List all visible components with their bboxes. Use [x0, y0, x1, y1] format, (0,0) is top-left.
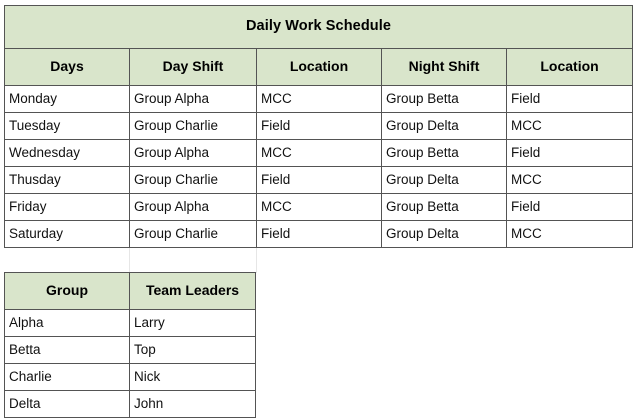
cell-day-shift: Group Alpha	[130, 86, 257, 113]
cell-night-shift: Group Delta	[382, 167, 507, 194]
column-header-day-shift: Day Shift	[130, 49, 257, 86]
cell-location-day: MCC	[257, 140, 382, 167]
cell-day-shift: Group Charlie	[130, 167, 257, 194]
cell-group: Delta	[5, 391, 130, 418]
cell-group: Betta	[5, 337, 130, 364]
cell-location-night: MCC	[507, 221, 633, 248]
cell-location-night: Field	[507, 194, 633, 221]
team-leaders-table: Group Team Leaders Alpha Larry Betta Top…	[4, 272, 256, 418]
daily-work-schedule-table: Daily Work Schedule Days Day Shift Locat…	[4, 5, 633, 248]
table-row: Tuesday Group Charlie Field Group Delta …	[5, 113, 633, 140]
cell-night-shift: Group Betta	[382, 194, 507, 221]
schedule-title: Daily Work Schedule	[5, 6, 633, 49]
column-header-team-leaders: Team Leaders	[130, 273, 256, 310]
cell-team-leader: Larry	[130, 310, 256, 337]
cell-group: Alpha	[5, 310, 130, 337]
cell-location-day: MCC	[257, 194, 382, 221]
column-header-night-shift: Night Shift	[382, 49, 507, 86]
cell-team-leader: John	[130, 391, 256, 418]
table-row: Saturday Group Charlie Field Group Delta…	[5, 221, 633, 248]
cell-team-leader: Top	[130, 337, 256, 364]
cell-day: Thusday	[5, 167, 130, 194]
cell-day: Monday	[5, 86, 130, 113]
cell-location-day: Field	[257, 221, 382, 248]
gridline-col-1	[129, 245, 130, 273]
schedule-table-element: Daily Work Schedule Days Day Shift Locat…	[4, 5, 633, 248]
cell-day-shift: Group Alpha	[130, 140, 257, 167]
table-row: Betta Top	[5, 337, 256, 364]
cell-location-day: Field	[257, 167, 382, 194]
leaders-table-element: Group Team Leaders Alpha Larry Betta Top…	[4, 272, 256, 418]
cell-location-day: Field	[257, 113, 382, 140]
cell-day-shift: Group Charlie	[130, 221, 257, 248]
leaders-table-body: Alpha Larry Betta Top Charlie Nick Delta…	[5, 310, 256, 418]
cell-day: Wednesday	[5, 140, 130, 167]
cell-day-shift: Group Alpha	[130, 194, 257, 221]
table-row: Thusday Group Charlie Field Group Delta …	[5, 167, 633, 194]
cell-night-shift: Group Delta	[382, 221, 507, 248]
cell-night-shift: Group Delta	[382, 113, 507, 140]
cell-group: Charlie	[5, 364, 130, 391]
schedule-table-head: Daily Work Schedule Days Day Shift Locat…	[5, 6, 633, 86]
schedule-header-row: Days Day Shift Location Night Shift Loca…	[5, 49, 633, 86]
cell-location-night: Field	[507, 86, 633, 113]
cell-day: Tuesday	[5, 113, 130, 140]
cell-location-night: MCC	[507, 113, 633, 140]
table-row: Charlie Nick	[5, 364, 256, 391]
cell-day: Friday	[5, 194, 130, 221]
column-header-group: Group	[5, 273, 130, 310]
leaders-header-row: Group Team Leaders	[5, 273, 256, 310]
cell-location-day: MCC	[257, 86, 382, 113]
column-header-days: Days	[5, 49, 130, 86]
cell-day-shift: Group Charlie	[130, 113, 257, 140]
leaders-table-head: Group Team Leaders	[5, 273, 256, 310]
cell-night-shift: Group Betta	[382, 140, 507, 167]
cell-day: Saturday	[5, 221, 130, 248]
gridline-col-2	[256, 245, 257, 273]
cell-night-shift: Group Betta	[382, 86, 507, 113]
spreadsheet-page: { "schedule_table": { "title": "Daily Wo…	[0, 0, 636, 413]
column-header-location-day: Location	[257, 49, 382, 86]
table-row: Wednesday Group Alpha MCC Group Betta Fi…	[5, 140, 633, 167]
cell-team-leader: Nick	[130, 364, 256, 391]
schedule-title-row: Daily Work Schedule	[5, 6, 633, 49]
table-row: Friday Group Alpha MCC Group Betta Field	[5, 194, 633, 221]
cell-location-night: MCC	[507, 167, 633, 194]
table-row: Delta John	[5, 391, 256, 418]
schedule-table-body: Monday Group Alpha MCC Group Betta Field…	[5, 86, 633, 248]
cell-location-night: Field	[507, 140, 633, 167]
column-header-location-night: Location	[507, 49, 633, 86]
table-row: Alpha Larry	[5, 310, 256, 337]
table-row: Monday Group Alpha MCC Group Betta Field	[5, 86, 633, 113]
